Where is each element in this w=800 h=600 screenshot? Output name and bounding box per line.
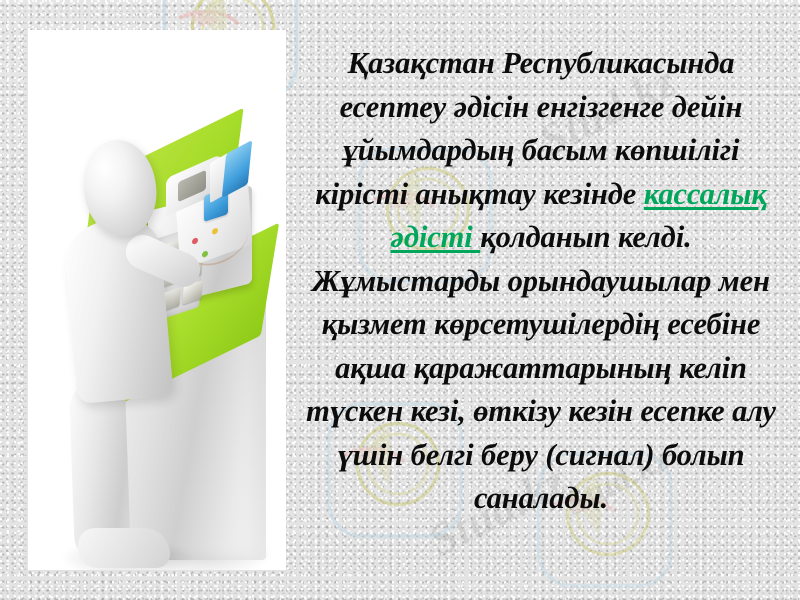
illustration-scene [28,30,286,570]
cash-register-illustration [28,30,286,570]
body-paragraph: Қазақстан Республикасында есептеу әдісін… [296,42,786,521]
text-after-link: қолданып келді. Жұмыстарды орындаушылар … [306,220,776,515]
slide-canvas: Stud.kz Stud.kz Stud.kz Stud.kz Stud.kz [0,0,800,600]
person-foot [78,528,170,568]
text-column: Қазақстан Республикасында есептеу әдісін… [296,42,786,521]
